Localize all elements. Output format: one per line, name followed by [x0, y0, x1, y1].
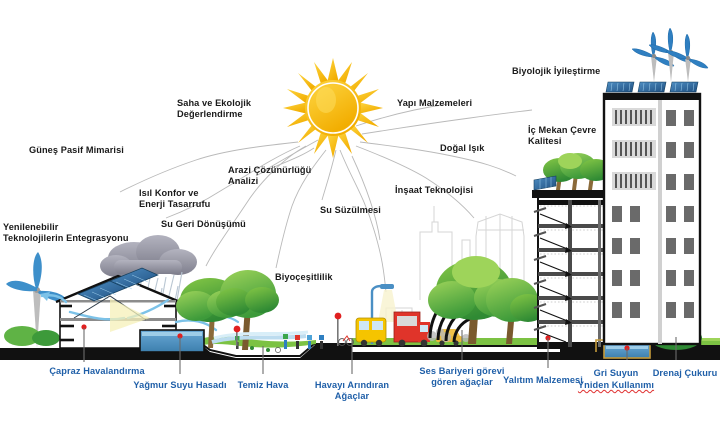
label-su-geri-donusumu: Su Geri Dönüşümü — [161, 219, 246, 230]
label-arazi-cozunurlugu-analizi: Arazi Çözünürlüğü Analizi — [228, 165, 311, 187]
label-capraz-havalandirma: Çapraz Havalandırma — [49, 366, 144, 377]
bus — [356, 318, 386, 346]
label-havayi-arindiran: Havayı Arındıran Ağaçlar — [315, 380, 389, 402]
label-dogal-isik: Doğal Işık — [440, 143, 484, 154]
label-gri-suyun-2: Yniden Kullanımı — [578, 380, 654, 391]
label-gri-suyun: Gri Suyun — [594, 368, 639, 379]
label-yapi-malzemeleri: Yapı Malzemeleri — [397, 98, 472, 109]
sun-icon — [283, 58, 383, 158]
label-yalitim-malzemesi: Yalıtım Malzemesi — [503, 375, 583, 386]
infographic-canvas: Güneş Pasif MimarisiSaha ve Ekolojik Değ… — [0, 0, 720, 427]
label-biyolojik-iyilestirme: Biyolojik İyileştirme — [512, 66, 600, 77]
label-isil-konfor-enerji: Isıl Konfor ve Enerji Tasarrufu — [139, 188, 210, 210]
label-insaat-teknolojisi: İnşaat Teknolojisi — [395, 185, 473, 196]
label-su-suzulmesi: Su Süzülmesi — [320, 205, 381, 216]
label-ses-bariyeri: Ses Bariyeri görevi gören ağaçlar — [419, 366, 504, 388]
label-saha-ve-ekolojik: Saha ve Ekolojik Değerlendirme — [177, 98, 251, 120]
wind-turbines-tower — [632, 28, 708, 82]
label-ic-mekan-cevre-kalitesi: İç Mekan Çevre Kalitesi — [528, 125, 596, 147]
solar-panel-mid-roof — [534, 176, 556, 190]
residential-tower — [604, 28, 708, 344]
label-drenaj-cukuru: Drenaj Çukuru — [653, 368, 718, 379]
solar-panels-tower — [606, 82, 698, 92]
truck — [394, 312, 430, 346]
label-biyocesitlilik: Biyoçeşitlilik — [275, 272, 333, 283]
label-yagmur-suyu-hasadi: Yağmur Suyu Hasadı — [133, 380, 226, 391]
label-gunes-pasif-mimarisi: Güneş Pasif Mimarisi — [29, 145, 124, 156]
label-temiz-hava: Temiz Hava — [238, 380, 289, 391]
label-yenilenebilir-teknolojiler: Yenilenebilir Teknolojilerin Entegrasyon… — [3, 222, 129, 244]
